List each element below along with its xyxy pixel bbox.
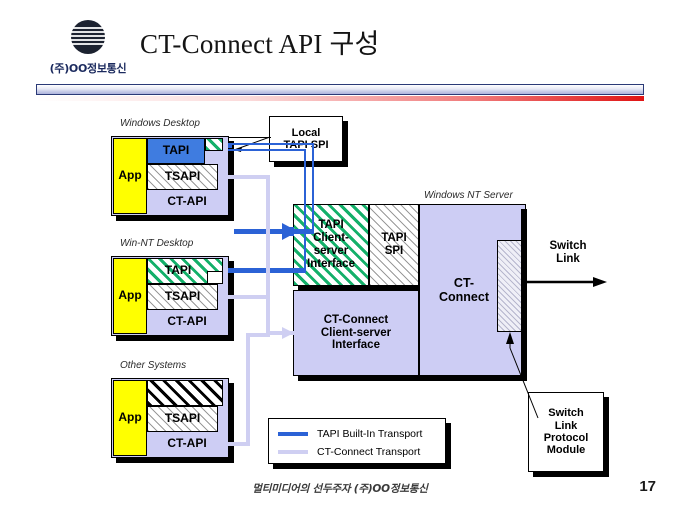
- client-app-windows-desktop[interactable]: [113, 138, 147, 214]
- client-layer-tsapi-1[interactable]: [147, 164, 218, 190]
- tapi-transport-line-1-bot: [228, 149, 306, 151]
- client-caption-winnt-desktop: Win-NT Desktop: [120, 238, 193, 249]
- server-block-ctconnect-client-server-interface[interactable]: [293, 290, 419, 376]
- callout-leader-line-2: [500, 330, 540, 420]
- server-caption: Windows NT Server: [424, 190, 513, 201]
- legend-swatch-tapi-icon: [278, 432, 308, 436]
- tapi-transport-line-1-down-b: [304, 149, 306, 273]
- legend-label-tapi: TAPI Built-In Transport: [317, 428, 422, 440]
- tapi-transport-arrow-tail: [286, 227, 294, 236]
- ctconnect-transport-line-1: [228, 175, 270, 179]
- client-notch-2: [207, 271, 223, 284]
- page-number: 17: [639, 478, 656, 495]
- client-layer-tsapi-2[interactable]: [147, 284, 218, 310]
- client-caption-other-systems: Other Systems: [120, 360, 186, 371]
- legend-label-ctconnect: CT-Connect Transport: [317, 446, 420, 458]
- switch-link-arrow-icon: [525, 275, 610, 289]
- legend-item-tapi-built-in-transport: TAPI Built-In Transport: [278, 426, 438, 442]
- footer-tagline: 멀티미디어의 선두주자 (주)OO정보통신: [0, 481, 680, 496]
- client-app-winnt-desktop[interactable]: [113, 258, 147, 334]
- switch-link-label: Switch Link: [533, 236, 603, 270]
- tapi-transport-arrow-icon: [268, 222, 300, 241]
- ctconnect-transport-arrow-icon: [262, 325, 296, 341]
- logo-mark-icon: [58, 16, 114, 62]
- server-block-switch-link-port[interactable]: [497, 240, 523, 332]
- client-app-other-systems[interactable]: [113, 380, 147, 456]
- server-block-tapi-spi[interactable]: [369, 204, 419, 286]
- client-layer-tapi-1[interactable]: [147, 138, 205, 164]
- ctconnect-transport-riser-1: [266, 175, 270, 335]
- tapi-transport-stub-1: [228, 145, 232, 148]
- title-rule-bar: [36, 84, 644, 95]
- tapi-transport-line-1-top: [228, 143, 314, 145]
- client-layer-tsapi-3[interactable]: [147, 406, 218, 432]
- ctconnect-transport-line-2: [228, 295, 270, 299]
- ctconnect-transport-riser-3: [246, 333, 250, 446]
- company-name-label: (주)OO정보통신: [36, 60, 140, 76]
- client-caption-windows-desktop: Windows Desktop: [120, 118, 200, 129]
- slide-canvas: (주)OO정보통신 CT-Connect API 구성 Windows Desk…: [0, 0, 680, 510]
- company-logo: (주)OO정보통신: [36, 16, 140, 78]
- legend-swatch-ctconnect-icon: [278, 450, 308, 454]
- title-rule-accent: [36, 96, 644, 101]
- callout-local-tapi-spi[interactable]: [269, 116, 343, 162]
- page-title: CT-Connect API 구성: [140, 22, 380, 61]
- client-layer-blank-3[interactable]: [147, 380, 223, 406]
- legend-item-ctconnect-transport: CT-Connect Transport: [278, 444, 438, 460]
- tapi-transport-line-1-down-a: [312, 143, 314, 231]
- callout-leader-arrow-1: [218, 134, 272, 156]
